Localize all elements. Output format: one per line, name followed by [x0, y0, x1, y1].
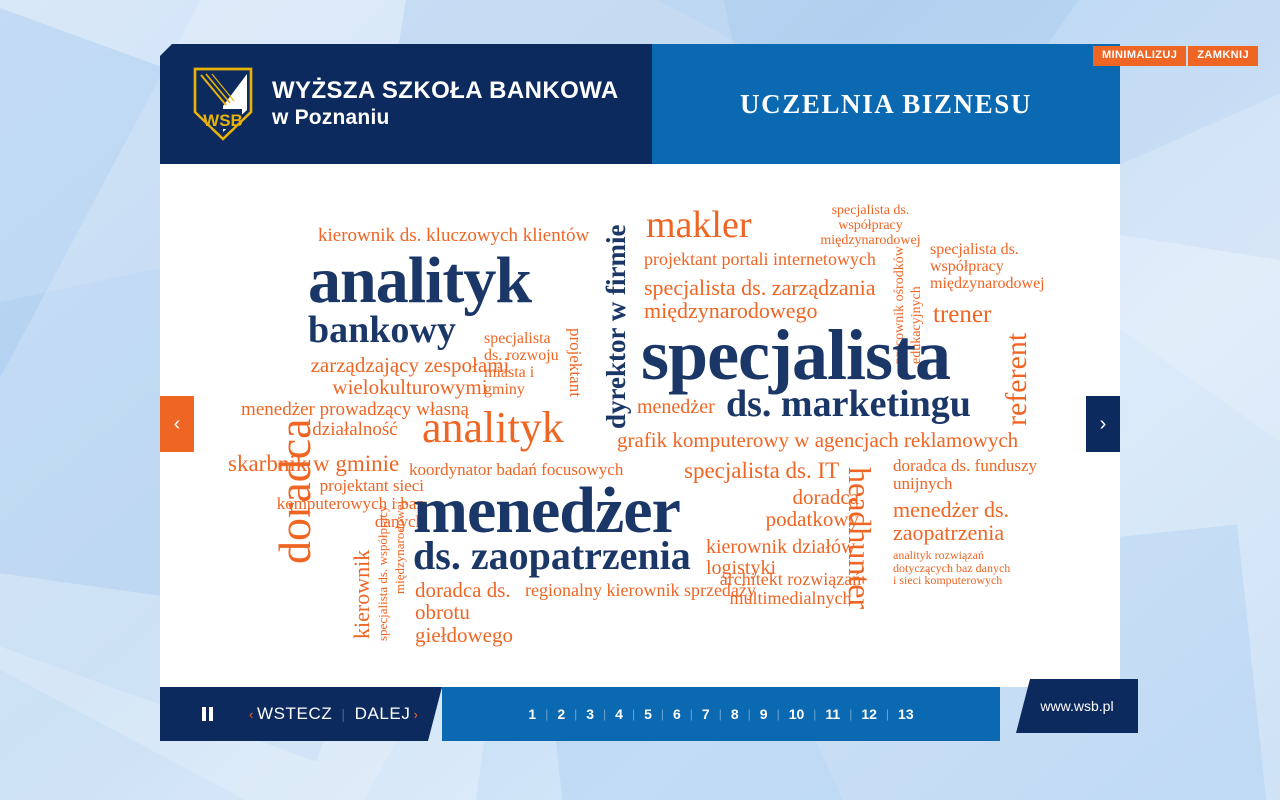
back-button[interactable]: WSTECZ — [257, 704, 332, 724]
word-cloud: doradca kierownik ds. kluczowych klientó… — [160, 164, 1120, 687]
university-name: WYŻSZA SZKOŁA BANKOWA w Poznaniu — [272, 77, 619, 130]
page-button-11[interactable]: 11 — [816, 706, 849, 722]
window-controls: MINIMALIZUJ ZAMKNIJ — [1093, 46, 1258, 66]
header-tagline-panel: UCZELNIA BIZNESU — [652, 44, 1120, 164]
next-slide-arrow[interactable]: › — [1086, 396, 1120, 452]
cloud-word-skarbnik: skarbnik w gminie — [228, 452, 399, 475]
slide-content: doradca kierownik ds. kluczowych klientó… — [160, 164, 1120, 687]
cloud-word-ds-marketingu: ds. marketingu — [726, 385, 971, 424]
page-button-7[interactable]: 7 — [693, 706, 719, 722]
page-button-3[interactable]: 3 — [577, 706, 603, 722]
next-button[interactable]: DALEJ — [355, 704, 411, 724]
header-brand: WSB WYŻSZA SZKOŁA BANKOWA w Poznaniu — [160, 44, 652, 164]
close-button[interactable]: ZAMKNIJ — [1188, 46, 1258, 66]
cloud-word-projektant-portali: projektant portali internetowych — [644, 250, 876, 268]
pause-icon-bar-left — [202, 707, 206, 721]
header-bar: WSB WYŻSZA SZKOŁA BANKOWA w Poznaniu UCZ… — [160, 44, 1120, 164]
cloud-word-grafik-komp: grafik komputerowy w agencjach reklamowy… — [617, 430, 1018, 451]
cloud-word-analityk-rozw: analityk rozwiązań dotyczących baz danyc… — [893, 549, 1013, 587]
cloud-word-dyrektor-firmie: dyrektor w firmie — [603, 225, 631, 429]
page-button-4[interactable]: 4 — [606, 706, 632, 722]
cloud-word-miedzynarodowej-v: międzynarodowej — [393, 501, 406, 594]
cloud-word-bankowy: bankowy — [308, 311, 456, 350]
wsb-shield-logo: WSB — [192, 66, 254, 142]
next-chevron-icon: › — [413, 707, 418, 722]
cloud-word-referent: referent — [1002, 333, 1033, 426]
minimize-button[interactable]: MINIMALIZUJ — [1093, 46, 1186, 66]
chevron-left-icon: ‹ — [174, 413, 181, 436]
presentation-window: WSB WYŻSZA SZKOŁA BANKOWA w Poznaniu UCZ… — [160, 44, 1120, 741]
cloud-word-spec-wspolpracy-2: specjalista ds. współpracy międzynarodow… — [930, 242, 1055, 293]
page-button-5[interactable]: 5 — [635, 706, 661, 722]
slide-nav-links: ‹ WSTECZ | DALEJ › — [246, 704, 421, 724]
page-button-1[interactable]: 1 — [519, 706, 545, 722]
page-button-12[interactable]: 12 — [852, 706, 886, 722]
cloud-word-kierownik-vert: kierownik — [351, 550, 373, 639]
website-link[interactable]: www.wsb.pl — [1016, 679, 1138, 733]
page-button-6[interactable]: 6 — [664, 706, 690, 722]
chevron-right-icon: › — [1100, 413, 1107, 436]
back-chevron-icon: ‹ — [249, 707, 254, 722]
page-button-9[interactable]: 9 — [751, 706, 777, 722]
cloud-word-spec-wspolpracy-1: specjalista ds. współpracy międzynarodow… — [808, 204, 933, 248]
page-button-8[interactable]: 8 — [722, 706, 748, 722]
playback-nav-panel: ‹ WSTECZ | DALEJ › — [160, 687, 442, 741]
tagline-text: UCZELNIA BIZNESU — [740, 89, 1032, 120]
cloud-word-analityk-orange: analityk — [422, 406, 564, 451]
university-name-line2: w Poznaniu — [272, 106, 619, 131]
cloud-word-architekt: architekt rozwiązań multimedialnych — [718, 570, 863, 608]
cloud-word-spec-wspolpracy-v: specjalista ds. współpracy — [376, 506, 389, 641]
cloud-word-kierownik-kluczowi: kierownik ds. kluczowych klientów — [318, 226, 589, 245]
pause-button[interactable] — [202, 707, 213, 721]
previous-slide-arrow[interactable]: ‹ — [160, 396, 194, 452]
cloud-word-analityk-big: analityk — [308, 247, 531, 314]
cloud-word-specjalista-big: specjalista — [641, 319, 950, 392]
cloud-word-menedzer-small: menedżer — [637, 397, 715, 417]
nav-separator: | — [341, 706, 345, 722]
cloud-word-ds-zaopatrzenia-big: ds. zaopatrzenia — [413, 536, 691, 577]
page-button-13[interactable]: 13 — [889, 706, 923, 722]
footer-bar: ‹ WSTECZ | DALEJ › 1 | 2 | 3 | 4 | 5 | 6… — [160, 687, 1120, 741]
page-selector: 1 | 2 | 3 | 4 | 5 | 6 | 7 | 8 | 9 | 10 |… — [442, 687, 1000, 741]
cloud-word-projektant-vert: projektant — [567, 328, 584, 397]
page-button-2[interactable]: 2 — [548, 706, 574, 722]
university-name-line1: WYŻSZA SZKOŁA BANKOWA — [272, 77, 619, 105]
cloud-word-spec-it: specjalista ds. IT — [684, 459, 839, 482]
cloud-word-makler: makler — [646, 206, 752, 245]
cloud-word-spec-rozwoju: specjalista ds. rozwoju miasta i gminy — [484, 331, 562, 399]
pause-icon-bar-right — [209, 707, 213, 721]
cloud-word-menedzer-zaopatrz: menedżer ds. zaopatrzenia — [893, 498, 1068, 545]
cloud-word-doradca-fundusze: doradca ds. funduszy unijnych — [893, 457, 1061, 493]
page-button-10[interactable]: 10 — [780, 706, 814, 722]
